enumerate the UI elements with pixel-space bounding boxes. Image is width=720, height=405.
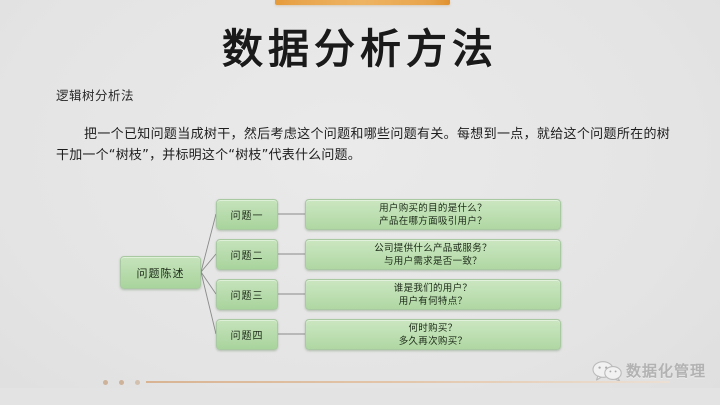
diagram-detail-4-line-2: 多久再次购买？ [399,335,468,348]
footer-dots-decoration [103,379,149,387]
body-paragraph: 把一个已知问题当成树干，然后考虑这个问题和哪些问题有关。每想到一点，就给这个问题… [56,124,670,166]
diagram-node-root[interactable]: 问题陈述 [120,256,201,289]
slide-canvas: 数据分析方法 逻辑树分析法 把一个已知问题当成树干，然后考虑这个问题和哪些问题有… [0,0,720,405]
page-title: 数据分析方法 [0,24,720,74]
diagram-detail-2-line-2: 与用户需求是否一致？ [384,255,482,268]
wechat-icon [592,361,622,381]
top-accent-bar [275,0,450,5]
diagram-node-branch-4-label: 问题四 [231,327,264,342]
diagram-detail-4-line-1: 何时购买？ [408,322,457,335]
diagram-node-root-label: 问题陈述 [137,265,185,281]
footer-dot-3 [135,380,140,385]
diagram-node-branch-3-label: 问题三 [231,287,264,302]
footer-brand-text: 数据化管理 [626,360,706,381]
diagram-detail-1-line-1: 用户购买的目的是什么？ [379,202,487,215]
section-subtitle: 逻辑树分析法 [56,87,134,104]
diagram-node-branch-1-label: 问题一 [231,207,264,222]
diagram-node-branch-2[interactable]: 问题二 [216,239,278,270]
diagram-node-branch-3[interactable]: 问题三 [216,279,278,310]
footer-dot-2 [119,380,124,385]
footer-divider [146,381,670,383]
footer-dot-1 [103,380,108,385]
diagram-detail-4[interactable]: 何时购买？ 多久再次购买？ [305,319,561,350]
diagram-detail-1-line-2: 产品在哪方面吸引用户？ [379,215,487,228]
diagram-detail-3-line-1: 谁是我们的用户？ [394,282,472,295]
diagram-detail-2[interactable]: 公司提供什么产品或服务？ 与用户需求是否一致？ [305,239,561,270]
diagram-node-branch-1[interactable]: 问题一 [216,199,278,230]
diagram-detail-2-line-1: 公司提供什么产品或服务？ [374,242,492,255]
diagram-detail-3-line-2: 用户有何特点？ [399,295,468,308]
footer-brand: 数据化管理 [592,360,706,381]
diagram-detail-3[interactable]: 谁是我们的用户？ 用户有何特点？ [305,279,561,310]
diagram-detail-1[interactable]: 用户购买的目的是什么？ 产品在哪方面吸引用户？ [305,199,561,230]
diagram-node-branch-2-label: 问题二 [231,247,264,262]
diagram-node-branch-4[interactable]: 问题四 [216,319,278,350]
bottom-edge-strip [0,388,720,405]
